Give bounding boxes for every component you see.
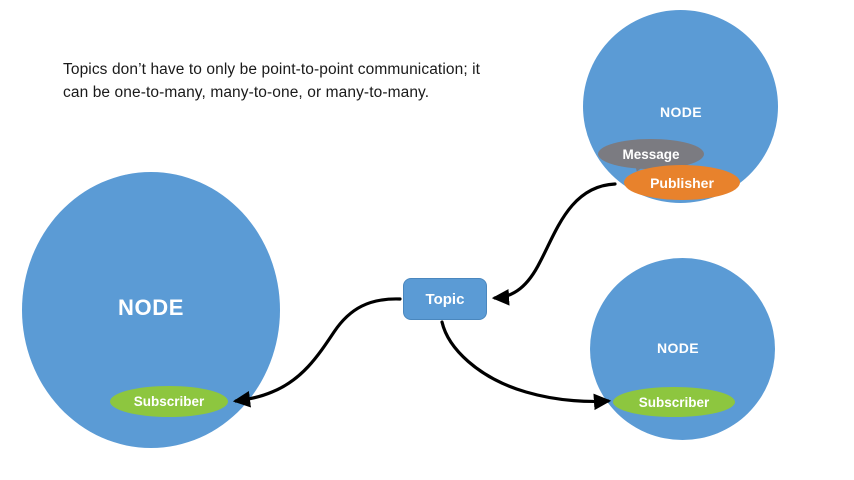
subscriber-ellipse-left[interactable]: Subscriber: [110, 386, 228, 417]
topic-box[interactable]: Topic: [403, 278, 487, 320]
node-label-bottom-right: NODE: [657, 340, 699, 356]
diagram-canvas: Topics don’t have to only be point-to-po…: [0, 0, 854, 480]
topic-label: Topic: [426, 291, 465, 308]
arrow-topic-to-subscriber-bottom-right: [442, 322, 608, 401]
publisher-label-top-right: Publisher: [650, 175, 714, 191]
caption-text: Topics don’t have to only be point-to-po…: [63, 58, 483, 105]
subscriber-ellipse-bottom-right[interactable]: Subscriber: [613, 387, 735, 417]
node-label-top-right: NODE: [660, 104, 702, 120]
message-label-top-right: Message: [622, 147, 679, 162]
subscriber-label-bottom-right: Subscriber: [639, 395, 710, 410]
node-label-left: NODE: [118, 295, 184, 321]
subscriber-label-left: Subscriber: [134, 394, 205, 409]
publisher-ellipse-top-right[interactable]: Publisher: [624, 165, 740, 200]
arrow-publisher-to-topic: [495, 184, 615, 298]
